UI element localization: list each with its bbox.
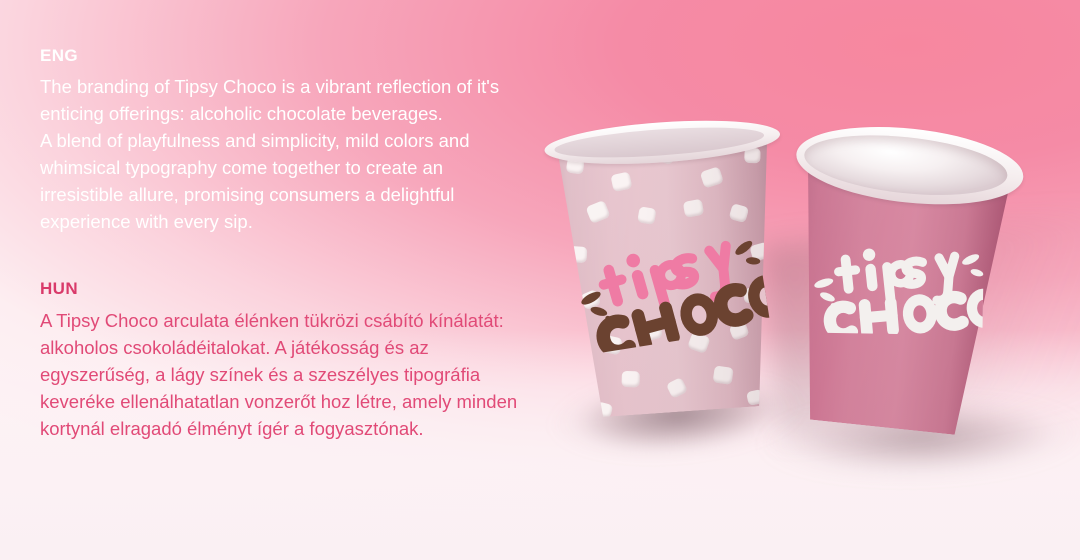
eng-heading: ENG [40,46,520,66]
cup-left [546,114,796,419]
product-mockup [520,0,1080,560]
language-block-eng: ENG The branding of Tipsy Choco is a vib… [40,46,520,235]
cup-right-logo [812,235,984,336]
hun-body: A Tipsy Choco arculata élénken tükrözi c… [40,307,520,442]
eng-paragraph-2: A blend of playfulness and simplicity, m… [40,127,520,235]
language-block-hun: HUN A Tipsy Choco arculata élénken tükrö… [40,279,520,441]
hun-heading: HUN [40,279,520,299]
cup-right [773,117,1023,438]
eng-body: The branding of Tipsy Choco is a vibrant… [40,73,520,235]
poster-canvas: ENG The branding of Tipsy Choco is a vib… [0,0,1080,560]
text-panel: ENG The branding of Tipsy Choco is a vib… [40,46,520,442]
hun-paragraph-1: A Tipsy Choco arculata élénken tükrözi c… [40,307,520,442]
eng-paragraph-1: The branding of Tipsy Choco is a vibrant… [40,73,520,127]
